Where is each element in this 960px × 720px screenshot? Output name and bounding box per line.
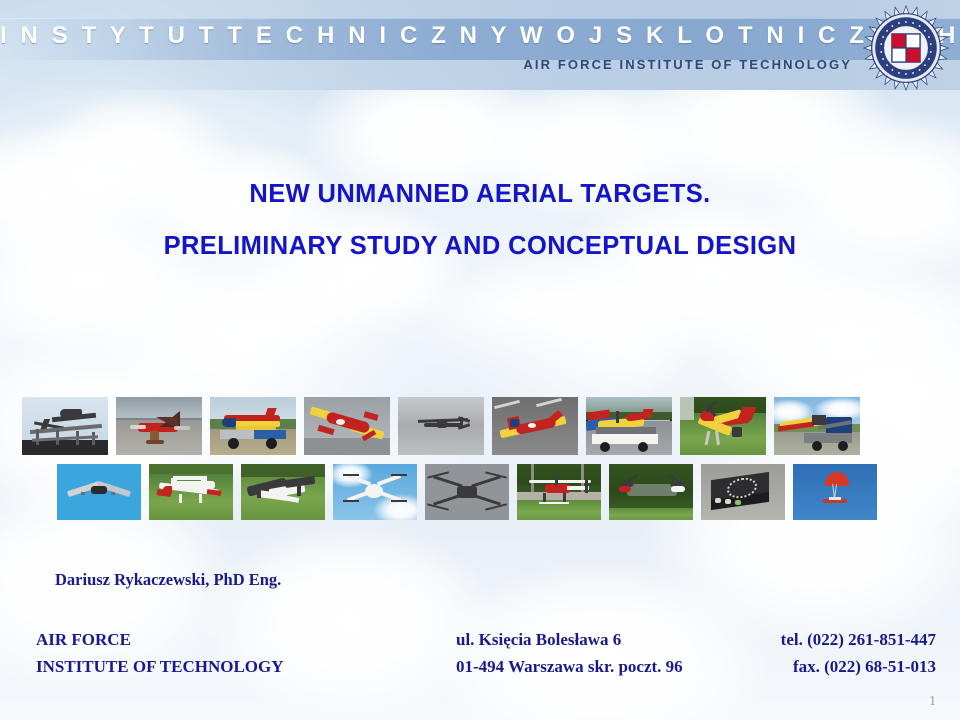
gallery-thumb-drone-mounted-on-truck-launcher[interactable] — [586, 397, 672, 455]
afit-crest-logo — [862, 4, 950, 92]
gallery-thumb-delta-wing-target-drone-on-runway[interactable] — [116, 397, 202, 455]
slide-title: NEW UNMANNED AERIAL TARGETS. PRELIMINARY… — [0, 168, 960, 272]
gallery-thumb-blended-wing-uav-on-grass[interactable] — [241, 464, 325, 520]
gallery-row-1 — [22, 397, 860, 455]
gallery-thumb-small-helicopter-uav-hovering[interactable] — [517, 464, 601, 520]
gallery-thumb-multirotor-drone-grey-background[interactable] — [425, 464, 509, 520]
gallery-thumb-electronic-control-unit-box[interactable] — [701, 464, 785, 520]
gallery-thumb-target-drone-parachute-recovery[interactable] — [793, 464, 877, 520]
institute-name-english: AIR FORCE INSTITUTE OF TECHNOLOGY — [0, 57, 852, 72]
gallery-thumb-quadcopter-in-flight[interactable] — [333, 464, 417, 520]
footer-org-line-1: AIR FORCE — [36, 630, 456, 650]
gallery-row-2 — [57, 464, 877, 520]
author-name: Dariusz Rykaczewski, PhD Eng. — [55, 570, 281, 590]
cloud-layer — [0, 0, 960, 720]
gallery-thumb-red-yellow-target-drone-top-view[interactable] — [304, 397, 390, 455]
footer-address-line-1: ul. Księcia Bolesława 6 — [456, 630, 726, 650]
gallery-thumb-red-yellow-drone-on-trailer[interactable] — [210, 397, 296, 455]
institute-name-polish: I N S T Y T U T T E C H N I C Z N Y W O … — [0, 22, 852, 50]
presentation-slide: I N S T Y T U T T E C H N I C Z N Y W O … — [0, 0, 960, 720]
footer-row: INSTITUTE OF TECHNOLOGY 01-494 Warszawa … — [36, 657, 936, 684]
footer-contact-line-1: tel. (022) 261-851-447 — [726, 630, 936, 650]
slide-number: 1 — [929, 694, 936, 710]
gallery-thumb-dark-uav-in-flight[interactable] — [398, 397, 484, 455]
gallery-thumb-red-yellow-jet-drone-on-grass[interactable] — [680, 397, 766, 455]
gallery-thumb-flying-wing-uav-in-blue-sky[interactable] — [57, 464, 141, 520]
footer-org-line-2: INSTITUTE OF TECHNOLOGY — [36, 657, 456, 677]
footer-contact-line-2: fax. (022) 68-51-013 — [726, 657, 936, 677]
gallery-thumb-twin-boom-uav-on-grass[interactable] — [149, 464, 233, 520]
gallery-thumb-towed-target-banner-in-flight[interactable] — [609, 464, 693, 520]
footer-row: AIR FORCE ul. Księcia Bolesława 6 tel. (… — [36, 630, 936, 657]
gallery-thumb-uav-on-launcher-rail[interactable] — [22, 397, 108, 455]
slide-header: I N S T Y T U T T E C H N I C Z N Y W O … — [0, 0, 960, 90]
title-line-2: PRELIMINARY STUDY AND CONCEPTUAL DESIGN — [0, 220, 960, 272]
footer-address-line-2: 01-494 Warszawa skr. poczt. 96 — [456, 657, 726, 677]
title-line-1: NEW UNMANNED AERIAL TARGETS. — [0, 168, 960, 220]
slide-footer: AIR FORCE ul. Księcia Bolesława 6 tel. (… — [36, 630, 936, 684]
gallery-thumb-drone-on-catapult-launcher[interactable] — [774, 397, 860, 455]
gallery-thumb-red-yellow-jet-drone-on-tarmac[interactable] — [492, 397, 578, 455]
